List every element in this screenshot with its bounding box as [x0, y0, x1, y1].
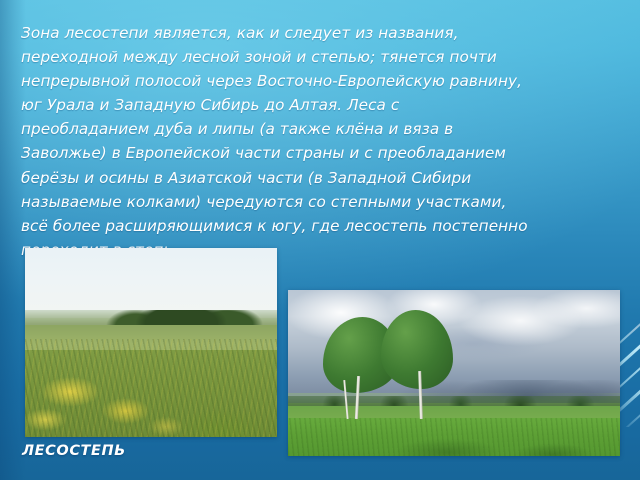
- streak-line: [618, 364, 640, 427]
- slide-caption: ЛЕСОСТЕПЬ: [22, 443, 126, 459]
- photo-grass-texture: [25, 339, 277, 437]
- photo-birch-grove-field: [288, 290, 620, 456]
- photo-near-green-field: [288, 418, 620, 456]
- photo-forest-steppe-meadow: [25, 248, 277, 437]
- photo-cloudy-sky: [288, 290, 620, 393]
- photo-sky: [25, 248, 277, 318]
- slide-body-text: Зона лесостепи является, как и следует и…: [21, 21, 619, 262]
- presentation-slide: Зона лесостепи является, как и следует и…: [0, 0, 640, 480]
